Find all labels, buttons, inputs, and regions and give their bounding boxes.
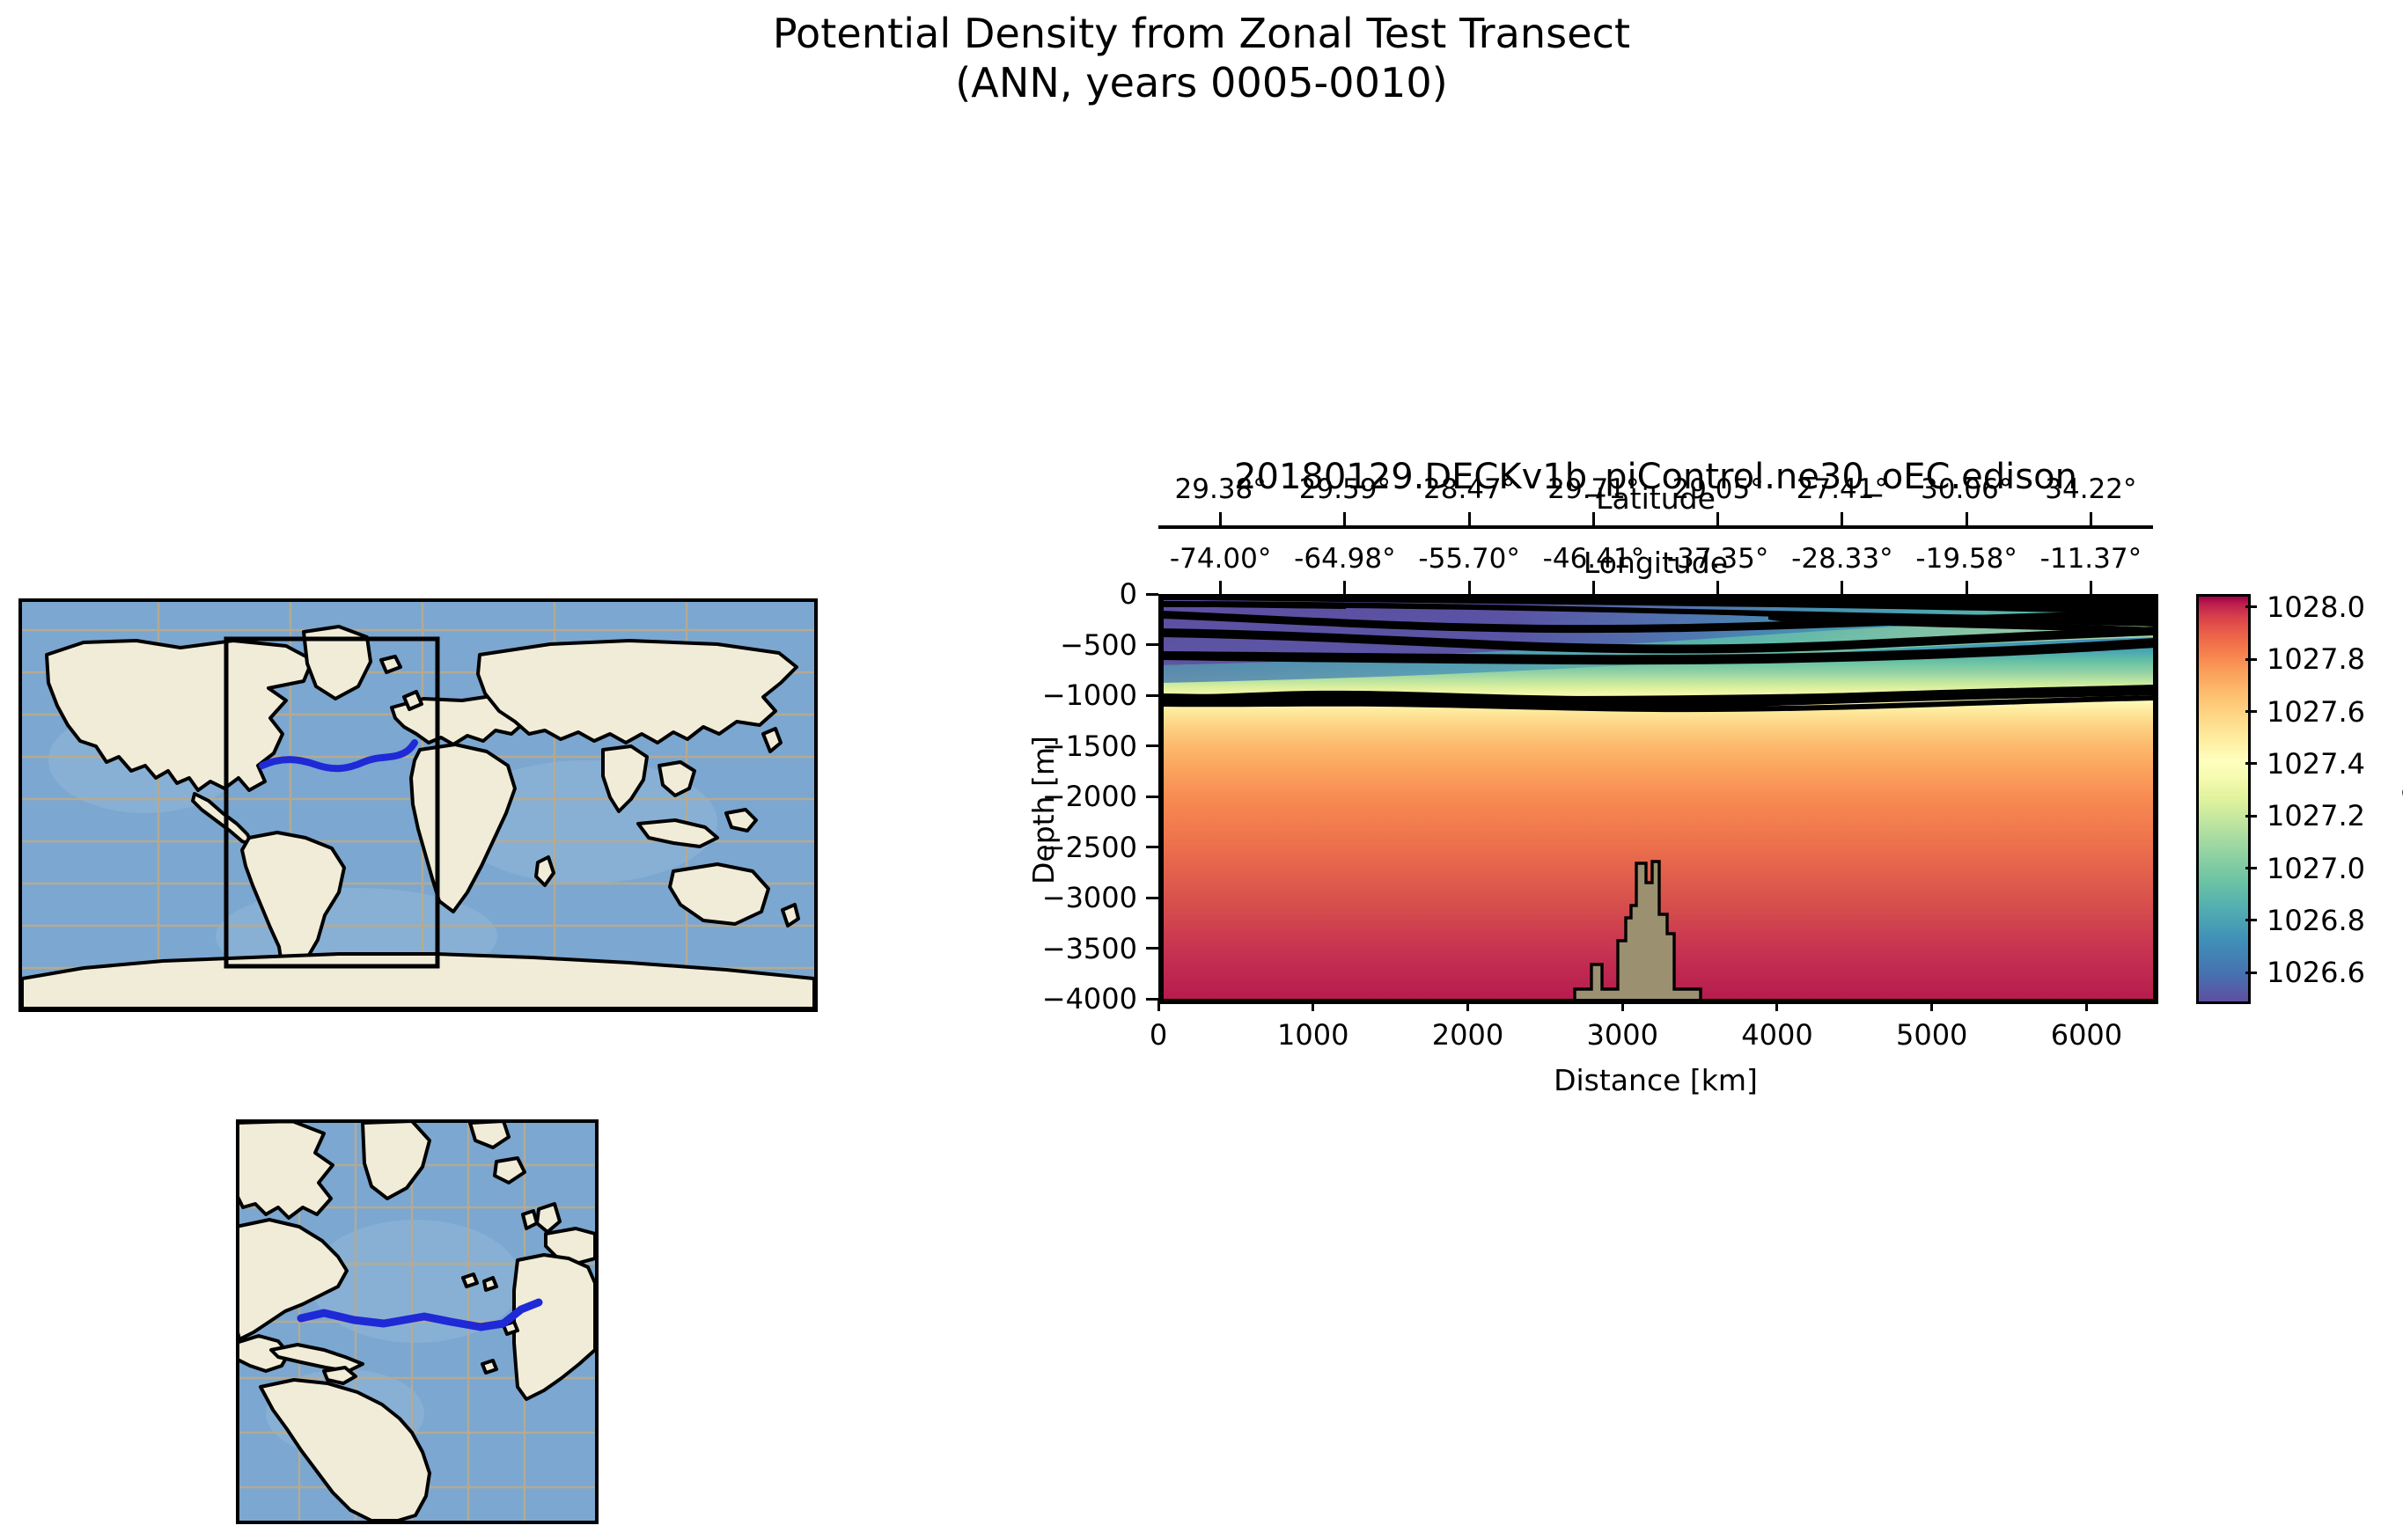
- longitude-tick-label: -46.41°: [1543, 543, 1644, 575]
- longitude-tick: [1343, 581, 1346, 594]
- latitude-tick-label: 34.22°: [2045, 473, 2136, 505]
- colorbar-tick-label: 1027.2: [2267, 799, 2365, 832]
- latitude-tick: [2090, 512, 2092, 525]
- colorbar-tick: [2245, 972, 2257, 974]
- latitude-tick: [1468, 512, 1471, 525]
- density-section-axes[interactable]: [1158, 594, 2158, 1004]
- distance-tick-label: 2000: [1432, 1018, 1503, 1052]
- depth-tick: [1146, 897, 1158, 899]
- latitude-tick-label: 29.38°: [1175, 473, 1267, 505]
- figure-title-line1: Potential Density from Zonal Test Transe…: [773, 10, 1630, 57]
- distance-tick-label: 0: [1150, 1018, 1167, 1052]
- colorbar-tick: [2245, 710, 2257, 713]
- colorbar-tick-label: 1026.8: [2267, 904, 2365, 937]
- distance-tick: [1157, 999, 1160, 1011]
- depth-tick: [1146, 694, 1158, 697]
- longitude-tick-label: -64.98°: [1294, 543, 1395, 575]
- depth-tick: [1146, 593, 1158, 596]
- longitude-tick: [1468, 581, 1471, 594]
- colorbar-tick: [2245, 605, 2257, 608]
- longitude-tick: [1841, 581, 1843, 594]
- latitude-tick-label: 29.59°: [1299, 473, 1391, 505]
- latitude-tick-label: 28.47°: [1423, 473, 1515, 505]
- longitude-tick-label: -11.37°: [2040, 543, 2142, 575]
- longitude-tick: [1716, 581, 1719, 594]
- distance-tick: [1466, 999, 1469, 1011]
- longitude-tick-label: -55.70°: [1418, 543, 1519, 575]
- distance-tick-label: 5000: [1896, 1018, 1967, 1052]
- distance-axis-label: Distance [km]: [1158, 1063, 2153, 1097]
- distance-tick: [1312, 999, 1314, 1011]
- colorbar-tick-label: 1027.0: [2267, 852, 2365, 885]
- colorbar-panel: 1026.61026.81027.01027.21027.41027.61027…: [2196, 594, 2372, 999]
- depth-tick: [1146, 998, 1158, 1001]
- colorbar-tick: [2245, 867, 2257, 869]
- depth-tick: [1146, 947, 1158, 950]
- latitude-tick-label: 29.71°: [1547, 473, 1639, 505]
- latitude-tick: [1343, 512, 1346, 525]
- latitude-tick: [1966, 512, 1968, 525]
- latitude-tick-label: 29.05°: [1672, 473, 1764, 505]
- colorbar-tick-label: 1027.6: [2267, 695, 2365, 729]
- latitude-tick: [1592, 512, 1595, 525]
- colorbar-tick-label: 1027.4: [2267, 747, 2365, 781]
- depth-tick-label: −1000: [956, 678, 1137, 712]
- longitude-tick: [1966, 581, 1968, 594]
- latitude-tick: [1716, 512, 1719, 525]
- cross-section-panel: 20180129.DECKv1b_piControl.ne30_oEC.edis…: [1158, 594, 2153, 999]
- longitude-tick: [1219, 581, 1222, 594]
- longitude-tick: [2090, 581, 2092, 594]
- colorbar-tick-label: 1027.8: [2267, 642, 2365, 676]
- depth-tick: [1146, 796, 1158, 798]
- colorbar-tick: [2245, 919, 2257, 921]
- depth-tick-label: −500: [956, 628, 1137, 662]
- colorbar-tick: [2245, 762, 2257, 765]
- figure-title-line2: (ANN, years 0005-0010): [0, 58, 2403, 107]
- longitude-tick: [1592, 581, 1595, 594]
- latitude-tick: [1219, 512, 1222, 525]
- density-field: [1161, 597, 2156, 1001]
- longitude-tick-label: -28.33°: [1791, 543, 1892, 575]
- latitude-axis-spine: [1158, 525, 2153, 529]
- global-map-graphic: [22, 602, 814, 1008]
- depth-tick-label: −3000: [956, 881, 1137, 914]
- depth-tick: [1146, 846, 1158, 848]
- figure-title: Potential Density from Zonal Test Transe…: [0, 9, 2403, 107]
- distance-tick: [1930, 999, 1933, 1011]
- depth-tick: [1146, 643, 1158, 646]
- latitude-tick: [1841, 512, 1843, 525]
- distance-tick: [1621, 999, 1624, 1011]
- distance-tick: [1775, 999, 1778, 1011]
- latitude-tick-label: 30.06°: [1921, 473, 2012, 505]
- colorbar-tick: [2245, 815, 2257, 818]
- depth-tick-label: −4000: [956, 982, 1137, 1016]
- depth-tick-label: −3500: [956, 932, 1137, 965]
- regional-map-graphic: [239, 1123, 595, 1521]
- depth-axis-label: Depth [m]: [1026, 736, 1061, 884]
- distance-tick-label: 3000: [1586, 1018, 1657, 1052]
- distance-tick: [2085, 999, 2088, 1011]
- distance-tick-label: 4000: [1741, 1018, 1812, 1052]
- depth-tick: [1146, 744, 1158, 747]
- colorbar-tick: [2245, 658, 2257, 661]
- regional-zoom-map[interactable]: [236, 1119, 599, 1524]
- depth-tick-label: 0: [956, 577, 1137, 611]
- latitude-tick-label: 27.41°: [1797, 473, 1888, 505]
- colorbar-gradient[interactable]: [2196, 594, 2251, 1004]
- global-overview-map[interactable]: [18, 598, 818, 1012]
- colorbar-tick-label: 1028.0: [2267, 590, 2365, 624]
- longitude-tick-label: -74.00°: [1170, 543, 1271, 575]
- distance-tick-label: 6000: [2051, 1018, 2122, 1052]
- distance-tick-label: 1000: [1277, 1018, 1348, 1052]
- longitude-tick-label: -19.58°: [1915, 543, 2017, 575]
- colorbar-tick-label: 1026.6: [2267, 956, 2365, 989]
- longitude-tick-label: -37.35°: [1667, 543, 1768, 575]
